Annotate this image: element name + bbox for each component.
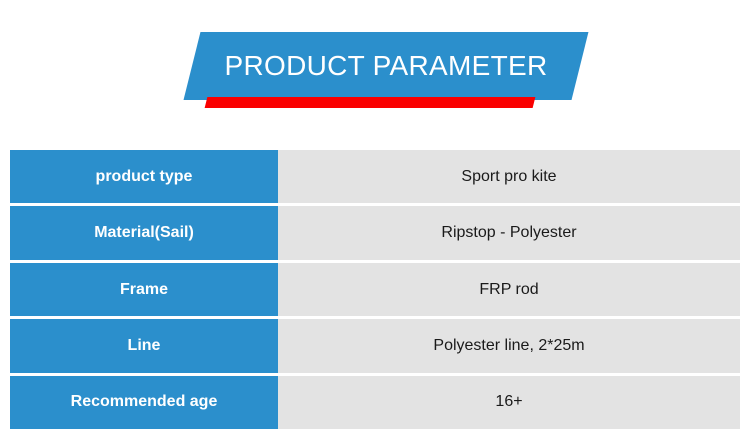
table-row: product type Sport pro kite <box>10 150 740 203</box>
param-label-product-type: product type <box>10 150 278 203</box>
param-label-recommended-age: Recommended age <box>10 376 278 429</box>
table-row: Line Polyester line, 2*25m <box>10 319 740 372</box>
param-value-frame: FRP rod <box>278 263 740 316</box>
param-label-line: Line <box>10 319 278 372</box>
param-label-frame: Frame <box>10 263 278 316</box>
table-row: Frame FRP rod <box>10 263 740 316</box>
param-value-material-sail: Ripstop - Polyester <box>278 206 740 259</box>
param-label-material-sail: Material(Sail) <box>10 206 278 259</box>
param-value-product-type: Sport pro kite <box>278 150 740 203</box>
table-row: Recommended age 16+ <box>10 376 740 429</box>
parameter-table: product type Sport pro kite Material(Sai… <box>10 150 740 429</box>
banner: PRODUCT PARAMETER <box>0 0 750 150</box>
param-value-line: Polyester line, 2*25m <box>278 319 740 372</box>
page-title: PRODUCT PARAMETER <box>192 32 580 100</box>
table-row: Material(Sail) Ripstop - Polyester <box>10 206 740 259</box>
product-parameter-page: PRODUCT PARAMETER product type Sport pro… <box>0 0 750 429</box>
param-value-recommended-age: 16+ <box>278 376 740 429</box>
